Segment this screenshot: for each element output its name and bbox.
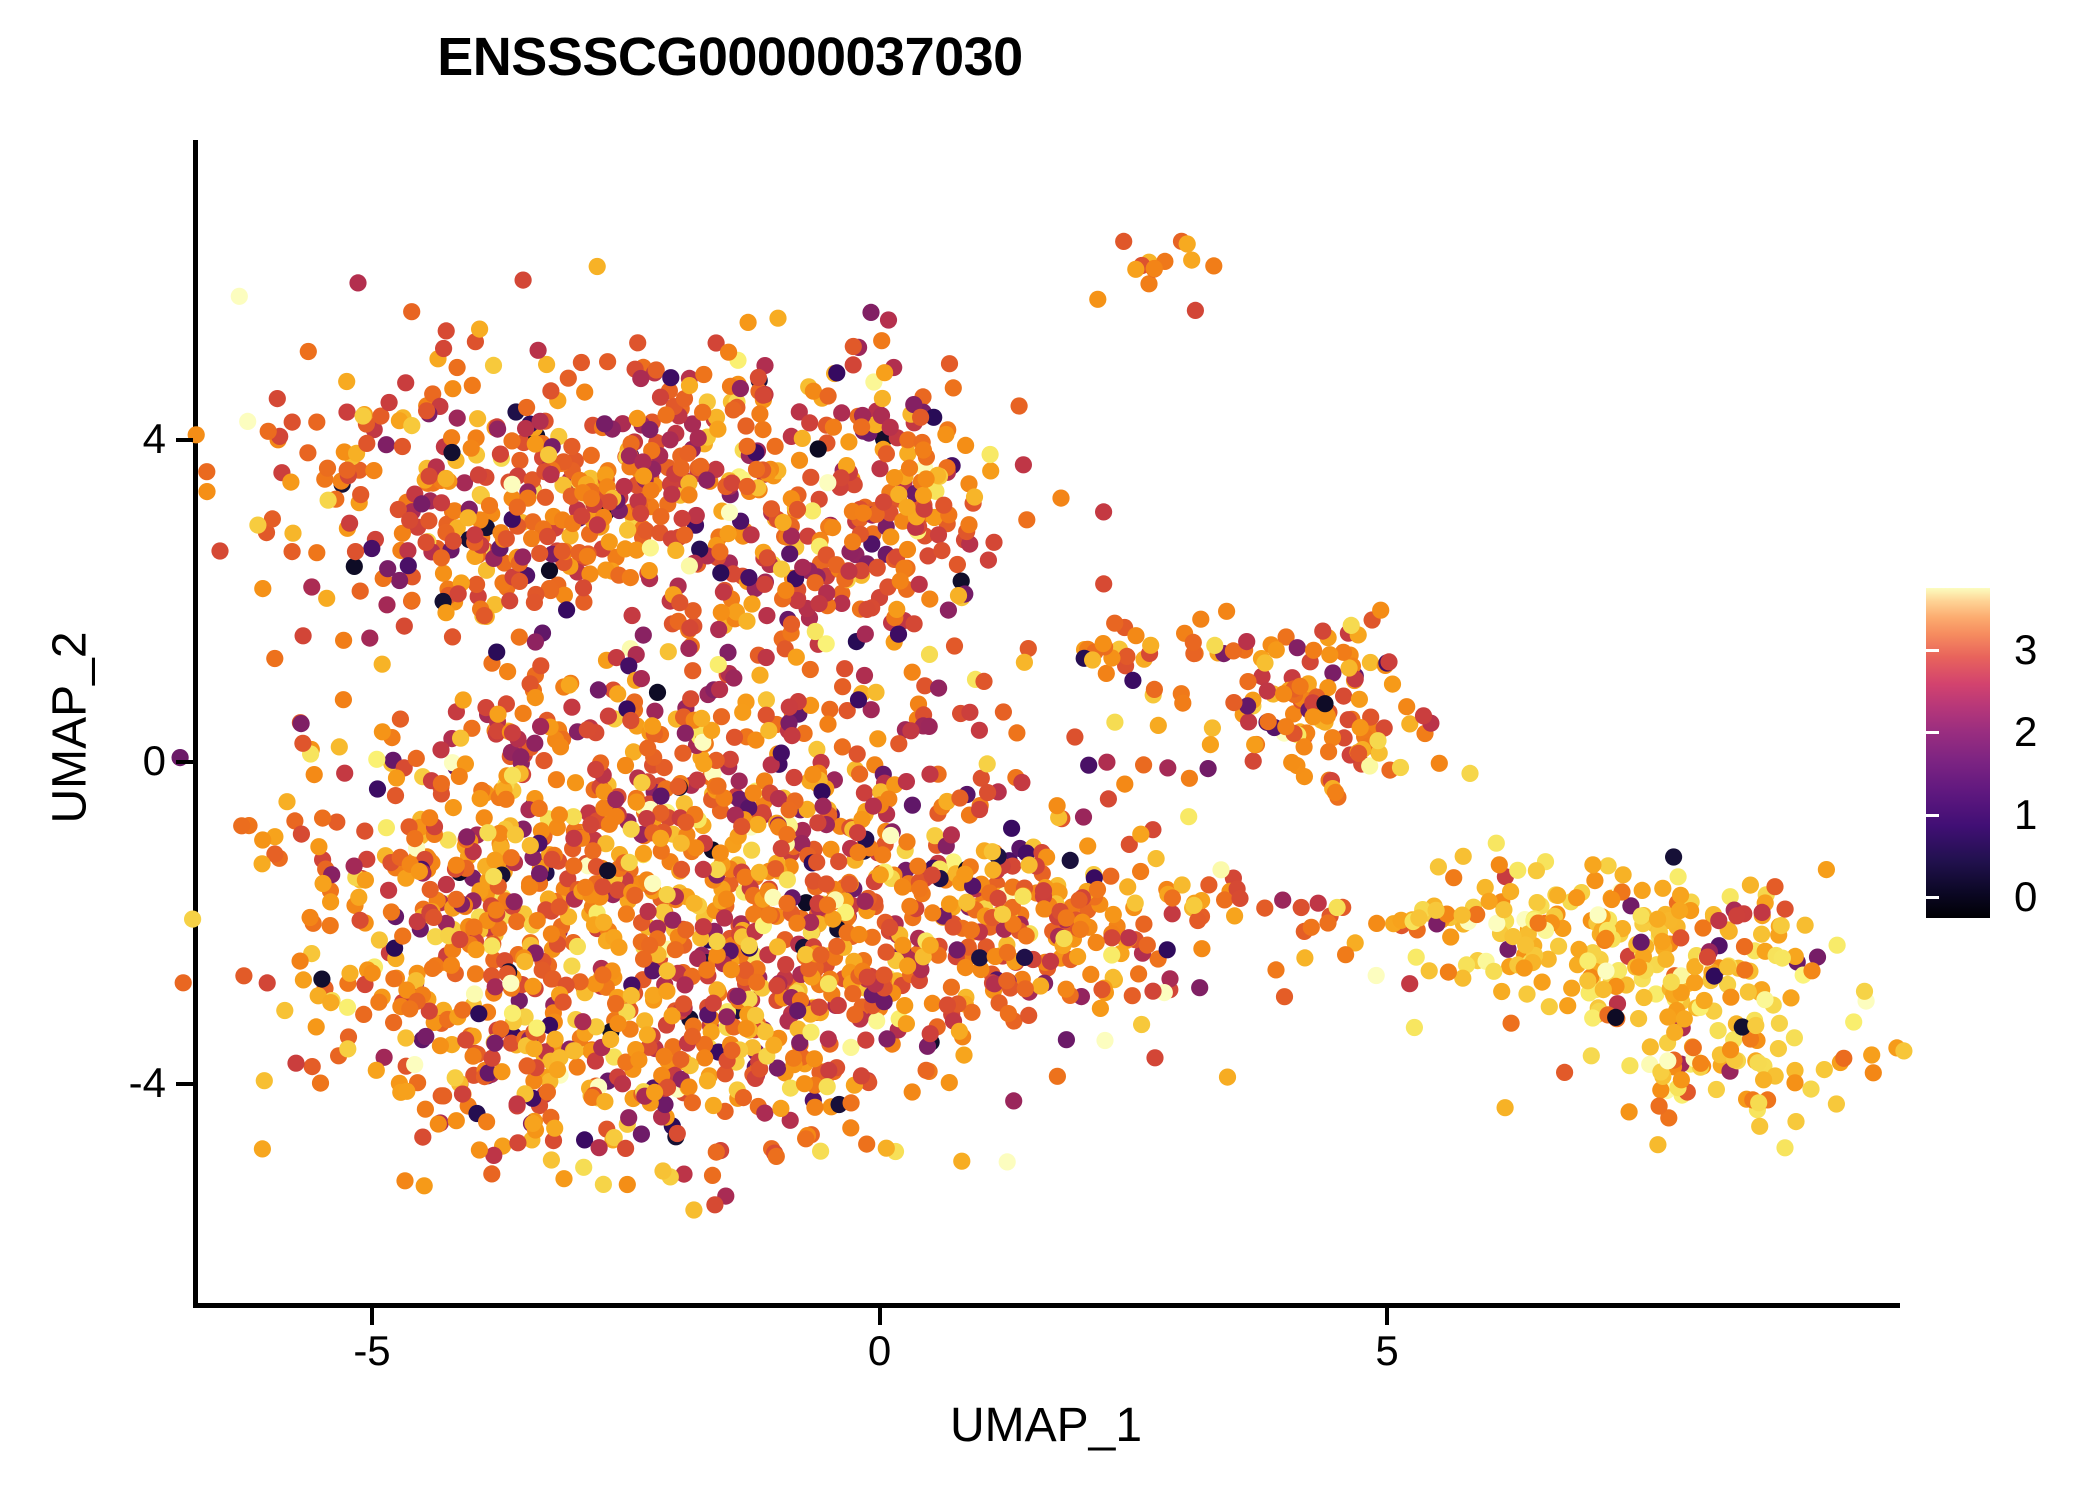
scatter-point — [249, 517, 266, 534]
scatter-point — [1503, 1015, 1520, 1032]
scatter-point — [875, 494, 892, 511]
scatter-point — [282, 474, 299, 491]
scatter-point — [322, 994, 339, 1011]
scatter-point — [1096, 1032, 1113, 1049]
scatter-point — [599, 862, 616, 879]
scatter-point — [902, 722, 919, 739]
scatter-point — [935, 497, 952, 514]
scatter-point — [1770, 1040, 1787, 1057]
scatter-point — [899, 431, 916, 448]
scatter-point — [857, 1032, 874, 1049]
scatter-point — [368, 1062, 385, 1079]
scatter-point — [524, 1115, 541, 1132]
scatter-point — [663, 486, 680, 503]
scatter-point — [1362, 654, 1379, 671]
scatter-point — [1093, 981, 1110, 998]
scatter-point — [447, 1069, 464, 1086]
scatter-point — [794, 430, 811, 447]
scatter-point — [1615, 866, 1632, 883]
scatter-point — [444, 628, 461, 645]
scatter-point — [786, 769, 803, 786]
scatter-point — [1398, 698, 1415, 715]
scatter-point — [1742, 877, 1759, 894]
scatter-point — [1563, 980, 1580, 997]
scatter-point — [503, 849, 520, 866]
scatter-point — [849, 745, 866, 762]
scatter-point — [710, 656, 727, 673]
scatter-point — [1226, 907, 1243, 924]
scatter-point — [619, 1176, 636, 1193]
scatter-point — [1710, 912, 1727, 929]
scatter-point — [539, 1084, 556, 1101]
scatter-point — [1098, 665, 1115, 682]
scatter-point — [1205, 257, 1222, 274]
scatter-point — [430, 1115, 447, 1132]
scatter-point — [811, 999, 828, 1016]
scatter-point — [541, 562, 558, 579]
scatter-point — [909, 858, 926, 875]
scatter-point — [672, 1051, 689, 1068]
scatter-point — [563, 438, 580, 455]
scatter-point — [1740, 983, 1757, 1000]
scatter-point — [466, 526, 483, 543]
scatter-point — [1410, 909, 1427, 926]
scatter-point — [331, 738, 348, 755]
scatter-point — [1011, 397, 1028, 414]
scatter-point — [924, 867, 941, 884]
scatter-point — [1080, 757, 1097, 774]
scatter-point — [805, 383, 822, 400]
scatter-point — [455, 691, 472, 708]
scatter-point — [788, 915, 805, 932]
scatter-point — [1440, 964, 1457, 981]
scatter-point — [878, 944, 895, 961]
scatter-point — [922, 1025, 939, 1042]
scatter-point — [1105, 906, 1122, 923]
scatter-point — [1095, 575, 1112, 592]
scatter-point — [352, 486, 369, 503]
scatter-point — [1181, 770, 1198, 787]
scatter-point — [514, 548, 531, 565]
scatter-point — [1296, 949, 1313, 966]
scatter-point — [596, 415, 613, 432]
colorbar-tick-label: 0 — [2014, 876, 2037, 918]
scatter-point — [1335, 688, 1352, 705]
scatter-point — [542, 382, 559, 399]
scatter-point — [1072, 921, 1089, 938]
scatter-point — [573, 354, 590, 371]
scatter-point — [629, 334, 646, 351]
scatter-point — [1180, 808, 1197, 825]
scatter-point — [656, 1048, 673, 1065]
scatter-point — [470, 466, 487, 483]
scatter-point — [756, 1105, 773, 1122]
scatter-point — [641, 562, 658, 579]
colorbar-tick-mark — [2063, 814, 2076, 817]
scatter-point — [1586, 872, 1603, 889]
scatter-point — [966, 488, 983, 505]
scatter-point — [626, 887, 643, 904]
scatter-point — [1231, 890, 1248, 907]
scatter-point — [444, 380, 461, 397]
scatter-point — [254, 1140, 271, 1157]
scatter-point — [828, 938, 845, 955]
scatter-point — [470, 1005, 487, 1022]
x-tick-mark — [370, 1308, 374, 1325]
scatter-point — [676, 976, 693, 993]
scatter-point — [1368, 915, 1385, 932]
scatter-point — [628, 794, 645, 811]
scatter-point — [602, 1031, 619, 1048]
scatter-point — [310, 838, 327, 855]
scatter-point — [1710, 1022, 1727, 1039]
scatter-point — [720, 525, 737, 542]
scatter-point — [406, 830, 423, 847]
scatter-point — [619, 521, 636, 538]
scatter-point — [1671, 902, 1688, 919]
scatter-point — [682, 690, 699, 707]
scatter-point — [518, 399, 535, 416]
scatter-point — [1329, 899, 1346, 916]
scatter-point — [899, 541, 916, 558]
scatter-point — [726, 729, 743, 746]
scatter-point — [1835, 1050, 1852, 1067]
scatter-point — [560, 370, 577, 387]
scatter-point — [1415, 707, 1432, 724]
scatter-point — [396, 618, 413, 635]
scatter-point — [357, 872, 374, 889]
scatter-point — [904, 797, 921, 814]
scatter-point — [472, 790, 489, 807]
scatter-point — [1673, 1071, 1690, 1088]
scatter-point — [749, 816, 766, 833]
scatter-point — [1106, 615, 1123, 632]
scatter-point — [871, 460, 888, 477]
scatter-point — [758, 607, 775, 624]
scatter-point — [1103, 946, 1120, 963]
scatter-point — [820, 1031, 837, 1048]
scatter-point — [739, 478, 756, 495]
scatter-point — [607, 791, 624, 808]
scatter-point — [485, 357, 502, 374]
scatter-point — [706, 1196, 723, 1213]
scatter-point — [595, 914, 612, 931]
scatter-point — [540, 446, 557, 463]
scatter-point — [1692, 1055, 1709, 1072]
scatter-point — [674, 510, 691, 527]
scatter-point — [1736, 938, 1753, 955]
scatter-point — [758, 691, 775, 708]
scatter-point — [1818, 861, 1835, 878]
scatter-point — [504, 1005, 521, 1022]
scatter-point — [641, 421, 658, 438]
scatter-point — [504, 476, 521, 493]
scatter-point — [955, 1047, 972, 1064]
scatter-point — [476, 607, 493, 624]
scatter-point — [468, 576, 485, 593]
y-tick-mark — [176, 760, 193, 764]
scatter-point — [1782, 989, 1799, 1006]
scatter-point — [865, 798, 882, 815]
scatter-point — [401, 512, 418, 529]
scatter-point — [671, 594, 688, 611]
scatter-point — [573, 508, 590, 525]
scatter-point — [618, 905, 635, 922]
scatter-point — [660, 643, 677, 660]
scatter-point — [341, 515, 358, 532]
scatter-point — [1293, 899, 1310, 916]
scatter-point — [940, 602, 957, 619]
scatter-point — [680, 640, 697, 657]
scatter-point — [1350, 745, 1367, 762]
colorbar-tick-label: 3 — [2014, 629, 2037, 671]
scatter-point — [437, 604, 454, 621]
scatter-point — [609, 1015, 626, 1032]
x-tick-label: 5 — [1307, 1330, 1467, 1372]
scatter-point — [1193, 940, 1210, 957]
scatter-point — [1595, 981, 1612, 998]
scatter-point — [1132, 863, 1149, 880]
scatter-point — [681, 377, 698, 394]
scatter-point — [416, 1177, 433, 1194]
scatter-point — [1736, 961, 1753, 978]
scatter-point — [548, 771, 565, 788]
scatter-point — [1708, 1081, 1725, 1098]
scatter-point — [1343, 617, 1360, 634]
y-axis-title: UMAP_2 — [43, 348, 98, 1108]
scatter-point — [1275, 685, 1292, 702]
scatter-point — [1139, 937, 1156, 954]
scatter-point — [971, 801, 988, 818]
scatter-point — [537, 489, 554, 506]
scatter-point — [1654, 933, 1671, 950]
scatter-point — [1283, 754, 1300, 771]
scatter-point — [565, 857, 582, 874]
scatter-point — [576, 1131, 593, 1148]
scatter-point — [1005, 1092, 1022, 1109]
scatter-point — [198, 463, 215, 480]
scatter-point — [705, 995, 722, 1012]
scatter-point — [680, 1078, 697, 1095]
scatter-point — [374, 656, 391, 673]
scatter-point — [639, 1026, 656, 1043]
scatter-point — [1754, 904, 1771, 921]
scatter-point — [1200, 876, 1217, 893]
scatter-point — [1327, 784, 1344, 801]
scatter-point — [355, 1006, 372, 1023]
scatter-point — [740, 569, 757, 586]
scatter-point — [698, 472, 715, 489]
scatter-point — [734, 704, 751, 721]
scatter-point — [338, 373, 355, 390]
scatter-point — [452, 730, 469, 747]
scatter-point — [738, 613, 755, 630]
scatter-point — [1146, 1049, 1163, 1066]
scatter-point — [1174, 695, 1191, 712]
scatter-point — [644, 718, 661, 735]
scatter-point — [710, 621, 727, 638]
scatter-point — [662, 431, 679, 448]
scatter-point — [1828, 1095, 1845, 1112]
scatter-point — [820, 975, 837, 992]
scatter-point — [577, 879, 594, 896]
scatter-point — [797, 946, 814, 963]
scatter-point — [1130, 965, 1147, 982]
scatter-point — [590, 681, 607, 698]
scatter-point — [380, 882, 397, 899]
scatter-point — [233, 817, 250, 834]
scatter-point — [789, 501, 806, 518]
scatter-point — [904, 1083, 921, 1100]
scatter-point — [1630, 959, 1647, 976]
scatter-point — [1124, 987, 1141, 1004]
scatter-point — [1150, 717, 1167, 734]
scatter-point — [811, 595, 828, 612]
scatter-point — [809, 814, 826, 831]
scatter-point — [1696, 992, 1713, 1009]
scatter-point — [1454, 907, 1471, 924]
scatter-point — [1305, 642, 1322, 659]
scatter-point — [486, 1035, 503, 1052]
scatter-point — [708, 1144, 725, 1161]
scatter-point — [527, 435, 544, 452]
scatter-point — [489, 706, 506, 723]
scatter-point — [1133, 1016, 1150, 1033]
scatter-point — [254, 580, 271, 597]
scatter-point — [924, 904, 941, 921]
scatter-point — [1058, 1031, 1075, 1048]
scatter-point — [801, 414, 818, 431]
scatter-point — [1014, 888, 1031, 905]
scatter-point — [364, 965, 381, 982]
scatter-point — [487, 978, 504, 995]
scatter-point — [1517, 936, 1534, 953]
scatter-point — [713, 708, 730, 725]
scatter-point — [690, 430, 707, 447]
scatter-point — [1245, 753, 1262, 770]
scatter-point — [422, 881, 439, 898]
scatter-point — [1776, 1139, 1793, 1156]
scatter-point — [810, 440, 827, 457]
scatter-point — [1120, 929, 1137, 946]
scatter-point — [479, 824, 496, 841]
scatter-point — [1219, 1069, 1236, 1086]
scatter-point — [551, 898, 568, 915]
scatter-point — [845, 356, 862, 373]
scatter-point — [1642, 1038, 1659, 1055]
scatter-point — [355, 407, 372, 424]
scatter-point — [659, 962, 676, 979]
scatter-point — [361, 630, 378, 647]
scatter-point — [904, 664, 921, 681]
scatter-point — [484, 1050, 501, 1067]
scatter-point — [485, 868, 502, 885]
scatter-point — [1676, 1010, 1693, 1027]
scatter-point — [339, 1040, 356, 1057]
scatter-point — [451, 931, 468, 948]
scatter-point — [511, 452, 528, 469]
scatter-point — [1502, 883, 1519, 900]
scatter-point — [465, 1048, 482, 1065]
scatter-point — [890, 735, 907, 752]
scatter-point — [399, 542, 416, 559]
scatter-point — [851, 766, 868, 783]
scatter-point — [349, 274, 366, 291]
scatter-point — [712, 564, 729, 581]
scatter-point — [957, 959, 974, 976]
scatter-point — [842, 1039, 859, 1056]
scatter-point — [445, 533, 462, 550]
scatter-point — [1766, 878, 1783, 895]
scatter-point — [781, 545, 798, 562]
scatter-point — [876, 967, 893, 984]
scatter-point — [898, 773, 915, 790]
scatter-point — [708, 933, 725, 950]
scatter-point — [1100, 790, 1117, 807]
scatter-point — [720, 344, 737, 361]
scatter-point — [1621, 1103, 1638, 1120]
scatter-point — [984, 861, 1001, 878]
scatter-point — [646, 703, 663, 720]
scatter-point — [601, 493, 618, 510]
scatter-point — [945, 379, 962, 396]
scatter-point — [549, 1061, 566, 1078]
scatter-point — [278, 793, 295, 810]
scatter-point — [635, 468, 652, 485]
scatter-point — [867, 684, 884, 701]
scatter-point — [1089, 291, 1106, 308]
scatter-point — [450, 585, 467, 602]
scatter-point — [824, 519, 841, 536]
scatter-point — [681, 557, 698, 574]
scatter-point — [1218, 603, 1235, 620]
scatter-point — [874, 846, 891, 863]
scatter-point — [1865, 1064, 1882, 1081]
scatter-point — [552, 738, 569, 755]
scatter-point — [676, 526, 693, 543]
scatter-point — [1098, 754, 1115, 771]
scatter-point — [1089, 881, 1106, 898]
scatter-point — [1049, 797, 1066, 814]
scatter-point — [732, 380, 749, 397]
scatter-point — [1516, 959, 1533, 976]
scatter-plot-area — [196, 142, 1896, 1304]
scatter-point — [689, 772, 706, 789]
scatter-point — [961, 704, 978, 721]
scatter-point — [1654, 880, 1671, 897]
scatter-point — [922, 937, 939, 954]
scatter-point — [504, 767, 521, 784]
scatter-point — [999, 1153, 1016, 1170]
scatter-point — [874, 390, 891, 407]
scatter-point — [555, 994, 572, 1011]
scatter-point — [295, 971, 312, 988]
scatter-point — [1159, 941, 1176, 958]
scatter-point — [1069, 948, 1086, 965]
scatter-point — [531, 800, 548, 817]
scatter-point — [709, 777, 726, 794]
scatter-point — [464, 377, 481, 394]
scatter-point — [745, 785, 762, 802]
scatter-point — [1663, 974, 1680, 991]
scatter-point — [881, 919, 898, 936]
scatter-point — [421, 809, 438, 826]
scatter-point — [507, 826, 524, 843]
scatter-point — [308, 1018, 325, 1035]
scatter-point — [853, 1067, 870, 1084]
scatter-point — [551, 806, 568, 823]
scatter-point — [555, 1170, 572, 1187]
